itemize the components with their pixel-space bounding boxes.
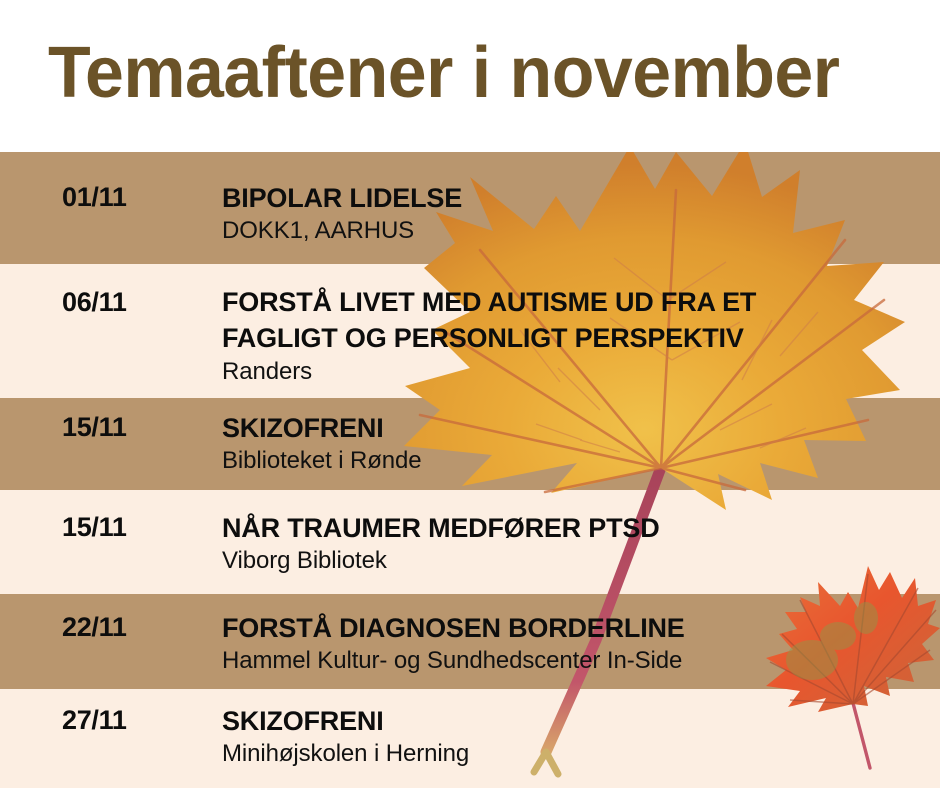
event-venue: DOKK1, AARHUS (222, 217, 414, 245)
event-venue: Minihøjskolen i Herning (222, 740, 469, 768)
list-item: 15/11 NÅR TRAUMER MEDFØRER PTSD Viborg B… (0, 490, 940, 594)
list-item: 15/11 SKIZOFRENI Biblioteket i Rønde (0, 398, 940, 490)
event-venue: Viborg Bibliotek (222, 547, 387, 575)
list-item: 27/11 SKIZOFRENI Minihøjskolen i Herning (0, 689, 940, 788)
event-date: 22/11 (62, 612, 127, 643)
event-title: BIPOLAR LIDELSE (222, 180, 462, 216)
event-venue: Randers (222, 358, 312, 386)
page-title: Temaaftener i november (48, 26, 839, 120)
event-title: SKIZOFRENI (222, 703, 384, 739)
event-date: 01/11 (62, 182, 127, 213)
event-venue: Hammel Kultur- og Sundhedscenter In-Side (222, 647, 682, 675)
list-item: 22/11 FORSTÅ DIAGNOSEN BORDERLINE Hammel… (0, 594, 940, 689)
event-title: SKIZOFRENI (222, 410, 384, 446)
poster-canvas: Temaaftener i november 01/11 BIPOLAR LID… (0, 0, 940, 788)
event-date: 15/11 (62, 512, 127, 543)
list-item: 06/11 FORSTÅ LIVET MED AUTISME UD FRA ET… (0, 264, 940, 398)
event-title: NÅR TRAUMER MEDFØRER PTSD (222, 510, 660, 546)
event-title: FORSTÅ DIAGNOSEN BORDERLINE (222, 610, 685, 646)
event-venue: Biblioteket i Rønde (222, 447, 422, 475)
event-date: 27/11 (62, 705, 127, 736)
title-bar: Temaaftener i november (0, 0, 940, 152)
event-date: 15/11 (62, 412, 127, 443)
event-title: FORSTÅ LIVET MED AUTISME UD FRA ET FAGLI… (222, 284, 756, 356)
list-item: 01/11 BIPOLAR LIDELSE DOKK1, AARHUS (0, 152, 940, 264)
event-date: 06/11 (62, 287, 127, 318)
